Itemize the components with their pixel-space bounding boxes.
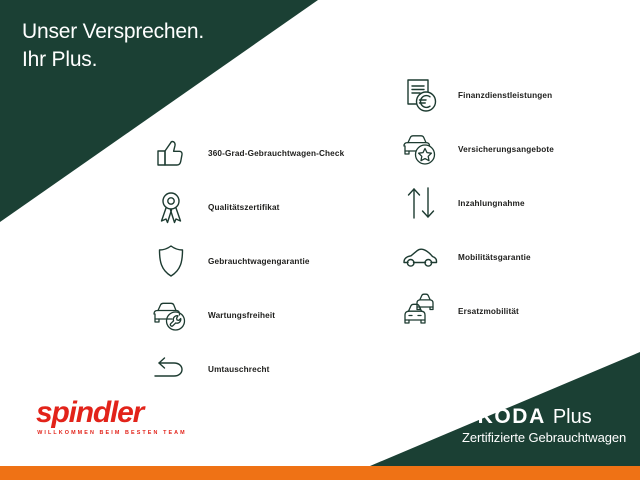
car-side-icon — [398, 235, 444, 279]
feature-label: Finanzdienstleistungen — [458, 91, 552, 100]
feature-item-mobilitaetsgarantie: Mobilitätsgarantie — [398, 230, 638, 284]
car-wrench-icon — [148, 293, 194, 337]
feature-label: Wartungsfreiheit — [208, 311, 275, 320]
feature-label: Umtauschrecht — [208, 365, 270, 374]
feature-item-wartungsfreiheit: Wartungsfreiheit — [148, 288, 388, 342]
spindler-wordmark: spindler — [36, 398, 188, 428]
spindler-logo: spindler WILLKOMMEN BEIM BESTEN TEAM — [36, 398, 188, 436]
up-down-arrows-icon — [398, 181, 444, 225]
document-euro-icon — [398, 73, 444, 117]
feature-list-left: 360-Grad-Gebrauchtwagen-Check Qualitätsz… — [148, 126, 388, 396]
feature-item-gebrauchtwagengarantie: Gebrauchtwagengarantie — [148, 234, 388, 288]
feature-label: 360-Grad-Gebrauchtwagen-Check — [208, 149, 344, 158]
feature-label: Gebrauchtwagengarantie — [208, 257, 310, 266]
feature-item-versicherungsangebote: Versicherungsangebote — [398, 122, 638, 176]
two-cars-icon — [398, 289, 444, 333]
feature-label: Qualitätszertifikat — [208, 203, 280, 212]
feature-item-qualitaetszertifikat: Qualitätszertifikat — [148, 180, 388, 234]
skoda-wordmark: SKODA — [462, 406, 546, 427]
feature-label: Ersatzmobilität — [458, 307, 519, 316]
skoda-plus-logo: SKODA Plus Zertifizierte Gebrauchtwagen — [462, 406, 626, 445]
orange-accent-bar — [0, 466, 640, 480]
feature-label: Versicherungsangebote — [458, 145, 554, 154]
feature-item-umtauschrecht: Umtauschrecht — [148, 342, 388, 396]
page-title: Unser Versprechen. Ihr Plus. — [22, 18, 204, 75]
spindler-tagline: WILLKOMMEN BEIM BESTEN TEAM — [36, 430, 188, 436]
car-star-icon — [398, 127, 444, 171]
skoda-plus-label: Plus — [553, 407, 592, 427]
return-arrow-icon — [148, 347, 194, 391]
feature-item-ersatzmobilitaet: Ersatzmobilität — [398, 284, 638, 338]
feature-item-finanzdienstleistungen: Finanzdienstleistungen — [398, 68, 638, 122]
skoda-subline: Zertifizierte Gebrauchtwagen — [462, 430, 626, 445]
skoda-logo-primary-line: SKODA Plus — [462, 406, 626, 427]
feature-label: Mobilitätsgarantie — [458, 253, 531, 262]
feature-label: Inzahlungnahme — [458, 199, 525, 208]
award-rosette-icon — [148, 185, 194, 229]
green-wedge-bottom-right — [370, 340, 640, 466]
feature-list-right: Finanzdienstleistungen Versicherungsange… — [398, 68, 638, 338]
thumbs-up-icon — [148, 131, 194, 175]
promo-banner: Unser Versprechen. Ihr Plus. 360-Grad-Ge… — [0, 0, 640, 480]
feature-item-360-check: 360-Grad-Gebrauchtwagen-Check — [148, 126, 388, 180]
shield-icon — [148, 239, 194, 283]
feature-item-inzahlungnahme: Inzahlungnahme — [398, 176, 638, 230]
